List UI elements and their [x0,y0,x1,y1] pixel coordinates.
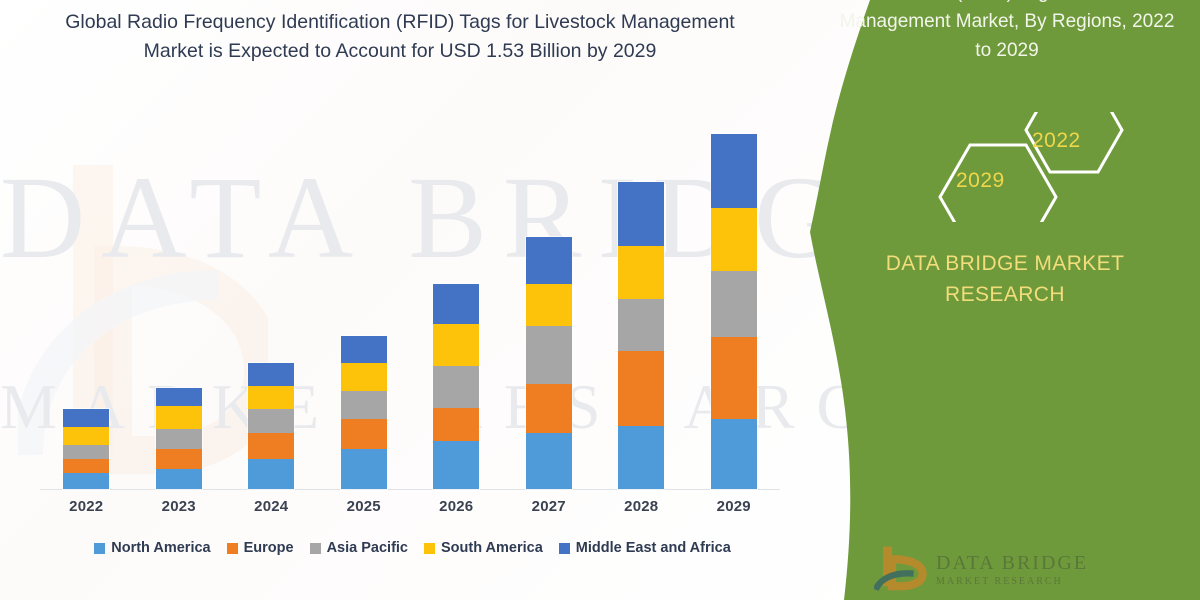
x-axis-label: 2023 [134,498,224,515]
bar-column [319,120,409,489]
bar-segment [248,459,294,489]
brand-line-1: DATA BRIDGE MARKET [830,248,1180,279]
legend-label: Asia Pacific [327,540,408,556]
bar-segment [526,284,572,326]
bar-segment [63,445,109,459]
bar-segment [63,427,109,445]
brand-panel-title: Identification (RFID) Tags for Livestock… [832,0,1182,65]
stacked-bar [711,134,757,489]
bar-segment [433,284,479,324]
stacked-bar [248,363,294,489]
bar-column [134,120,224,489]
x-axis-label: 2027 [504,498,594,515]
bar-segment [526,384,572,433]
brand-panel: Identification (RFID) Tags for Livestock… [810,0,1200,600]
legend-swatch-icon [559,543,570,554]
footer-logo: DATA BRIDGE MARKET RESEARCH [874,540,1104,598]
bar-segment [156,449,202,469]
bar-segment [63,409,109,427]
bar-segment [526,326,572,384]
bar-segment [711,419,757,489]
footer-logo-name: DATA BRIDGE [936,552,1088,575]
bar-column [689,120,779,489]
legend-swatch-icon [227,543,238,554]
legend-item[interactable]: Europe [227,540,294,556]
bar-segment [618,426,664,489]
legend-swatch-icon [424,543,435,554]
bar-segment [63,459,109,473]
stacked-bar [341,336,387,489]
legend-label: South America [441,540,543,556]
stacked-bar [433,284,479,489]
stacked-bar [63,409,109,489]
legend-item[interactable]: Asia Pacific [310,540,408,556]
bar-segment [711,337,757,419]
x-axis-labels: 20222023202420252026202720282029 [40,498,780,515]
bar-segment [341,449,387,489]
bar-segment [341,336,387,363]
chart-panel: DATA BRIDGE MARKET RESEARCH Global Radio… [0,0,900,600]
brand-name: DATA BRIDGE MARKET RESEARCH [830,248,1180,310]
bar-segment [618,246,664,299]
legend-item[interactable]: North America [94,540,210,556]
stacked-bar [156,388,202,489]
hexagon-label-2022: 2022 [1032,129,1081,153]
bar-segment [248,433,294,459]
x-axis-label: 2028 [596,498,686,515]
bar-segment [618,299,664,351]
x-axis-label: 2025 [319,498,409,515]
bar-segment [711,208,757,271]
footer-logo-icon [874,544,928,596]
x-axis-label: 2029 [689,498,779,515]
legend-label: North America [111,540,210,556]
bar-segment [156,388,202,406]
chart-legend: North AmericaEuropeAsia PacificSouth Ame… [40,540,785,556]
legend-swatch-icon [310,543,321,554]
bar-column [411,120,501,489]
bar-segment [433,408,479,441]
footer-logo-subtitle: MARKET RESEARCH [936,576,1063,587]
bar-segment [248,409,294,433]
stacked-bar [618,182,664,489]
bar-segment [341,391,387,419]
bar-column [596,120,686,489]
x-axis-line [40,489,780,490]
legend-label: Europe [244,540,294,556]
bar-chart [40,120,780,489]
bar-segment [433,441,479,489]
x-axis-label: 2022 [41,498,131,515]
bar-segment [63,473,109,489]
stacked-bar [526,237,572,489]
bar-column [504,120,594,489]
x-axis-label: 2024 [226,498,316,515]
bar-segment [156,469,202,489]
bar-segment [618,182,664,246]
bar-segment [156,406,202,429]
bar-segment [526,433,572,489]
legend-item[interactable]: South America [424,540,543,556]
bar-segment [433,366,479,408]
bar-segment [248,363,294,386]
hexagon-shapes-icon [810,112,1200,222]
bar-segment [341,419,387,449]
bar-segment [526,237,572,284]
bar-segment [433,324,479,366]
bar-segment [341,363,387,391]
legend-swatch-icon [94,543,105,554]
bar-segment [248,386,294,409]
bar-segment [618,351,664,426]
brand-line-2: RESEARCH [830,279,1180,310]
bar-segment [711,134,757,208]
bar-column [41,120,131,489]
legend-item[interactable]: Middle East and Africa [559,540,731,556]
page-title: Global Radio Frequency Identification (R… [55,8,745,66]
hexagon-label-2029: 2029 [956,169,1005,193]
bar-column [226,120,316,489]
infographic-canvas: DATA BRIDGE MARKET RESEARCH Global Radio… [0,0,1200,600]
x-axis-label: 2026 [411,498,501,515]
bar-segment [711,271,757,337]
bar-segment [156,429,202,449]
hexagon-group: 2022 2029 [810,112,1200,222]
legend-label: Middle East and Africa [576,540,731,556]
